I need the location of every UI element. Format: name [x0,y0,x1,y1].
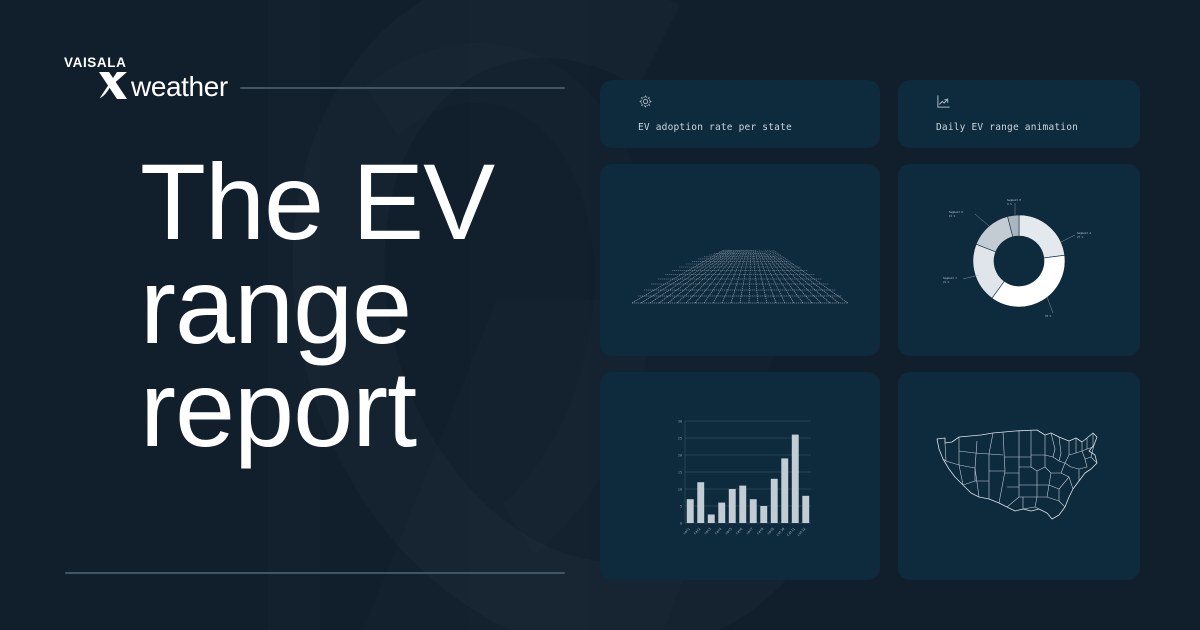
page-title: The EV range report [140,150,560,461]
svg-text:cat2: cat2 [693,527,702,536]
card-header: Daily EV range animation [898,80,1140,133]
donut-chart-icon: Segment A 27 % 33 % Segment C 21 % Segme… [898,164,1140,356]
svg-text:cat6: cat6 [735,527,744,536]
svg-text:Segment E: Segment E [1007,198,1021,202]
gear-icon [638,94,880,114]
card-us-map[interactable] [898,372,1140,580]
svg-text:10: 10 [678,487,682,491]
svg-text:21 %: 21 % [943,280,950,284]
svg-text:cat3: cat3 [703,527,712,536]
svg-text:30: 30 [678,419,682,423]
svg-text:cat11: cat11 [786,527,796,537]
svg-text:cat9: cat9 [766,527,775,536]
card-header: EV adoption rate per state [600,80,880,133]
brand-logo[interactable]: VAISALA weather [64,56,228,102]
card-grid: EV adoption rate per state Daily EV rang… [600,80,1140,580]
card-label-ev-adoption: EV adoption rate per state [638,122,880,133]
svg-text:Segment A: Segment A [1077,231,1091,235]
xweather-x-logo-icon [96,68,130,102]
svg-text:5: 5 [680,504,682,508]
svg-text:cat4: cat4 [714,527,723,536]
card-daily-ev-range[interactable]: Daily EV range animation [898,80,1140,148]
left-panel: VAISALA weather The EV range report [0,0,600,630]
svg-text:0: 0 [680,521,682,525]
svg-text:20: 20 [678,453,682,457]
divider-bottom [65,572,565,574]
svg-text:Segment C: Segment C [943,276,957,280]
card-perspective-grid[interactable] [600,164,880,356]
brand-product-lockup: weather [96,68,228,102]
svg-text:cat1: cat1 [682,527,691,536]
svg-text:cat12: cat12 [796,527,806,537]
svg-text:cat7: cat7 [745,527,754,536]
page-title-line-3: report [140,357,560,461]
svg-text:27 %: 27 % [1077,235,1084,239]
card-donut-chart[interactable]: Segment A 27 % 33 % Segment C 21 % Segme… [898,164,1140,356]
bar-chart-icon: 051015202530 cat1cat2cat3cat4cat5cat6cat… [600,372,880,580]
svg-text:4 %: 4 % [1007,202,1012,206]
svg-text:25: 25 [678,436,682,440]
card-label-daily-range: Daily EV range animation [936,122,1140,133]
svg-text:15 %: 15 % [949,214,956,218]
svg-text:15: 15 [678,470,682,474]
page-title-line-2: range [140,254,560,358]
svg-text:cat8: cat8 [756,527,765,536]
line-chart-up-icon [936,94,1140,114]
page-title-line-1: The EV [140,150,560,254]
perspective-grid-icon [600,164,880,356]
brand-product-name: weather [131,72,228,102]
svg-text:Segment D: Segment D [949,210,963,214]
svg-text:cat5: cat5 [724,527,733,536]
svg-text:33 %: 33 % [1045,314,1052,318]
card-ev-adoption-rate[interactable]: EV adoption rate per state [600,80,880,148]
svg-text:cat10: cat10 [775,527,785,537]
card-bar-chart[interactable]: 051015202530 cat1cat2cat3cat4cat5cat6cat… [600,372,880,580]
us-map-icon [898,372,1140,580]
divider-top [240,87,565,89]
